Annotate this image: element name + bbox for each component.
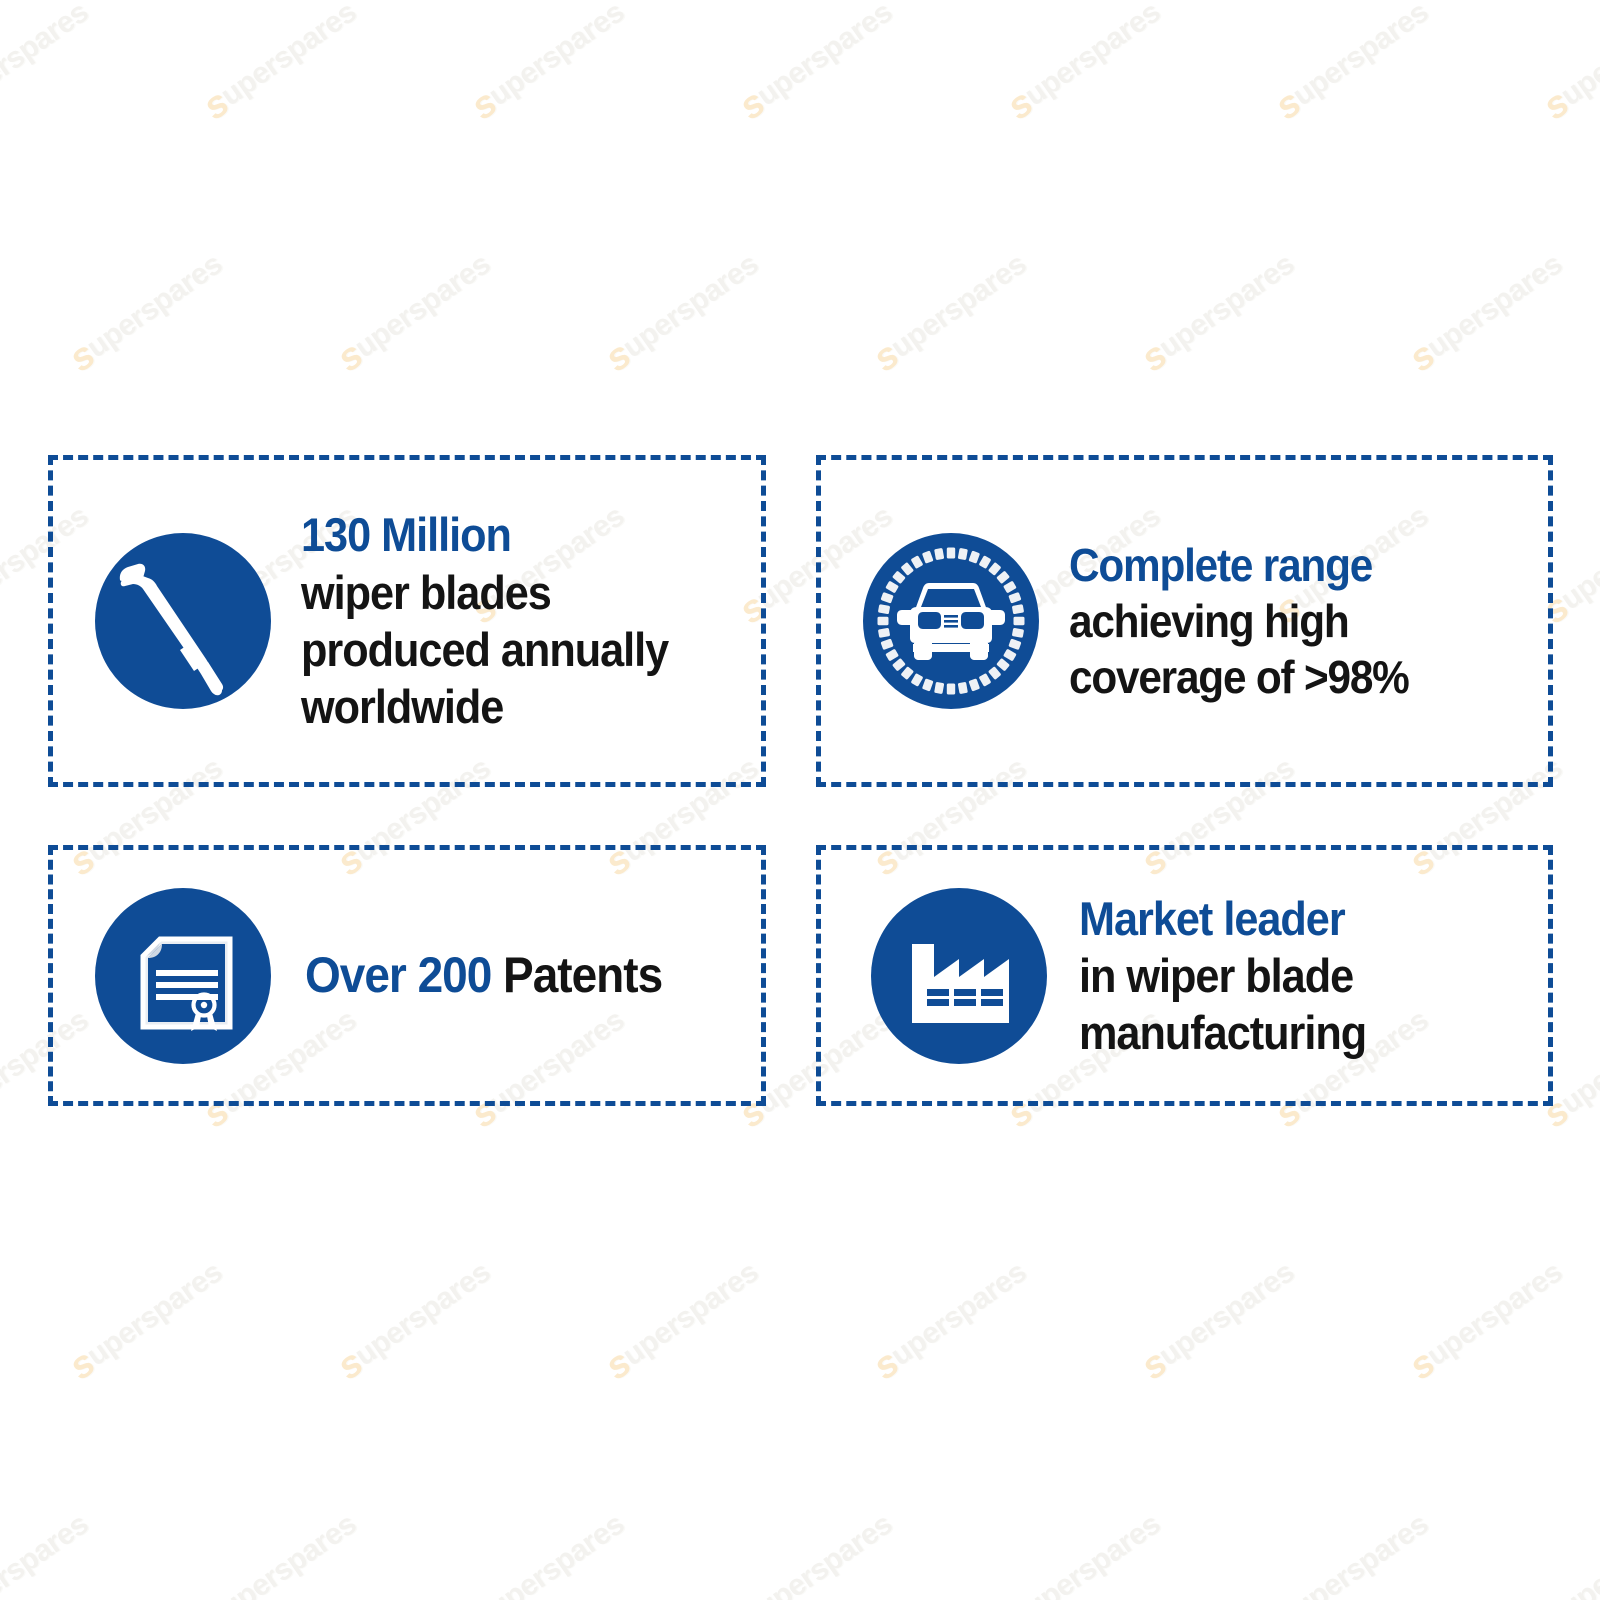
panel-line: wiper blades xyxy=(301,564,715,621)
panel-wiper-blades-produced: 130 Million wiper blades produced annual… xyxy=(48,455,766,787)
factory-icon xyxy=(859,881,1059,1071)
panel-line: produced annually xyxy=(301,621,715,678)
panel-market-leader: Market leader in wiper blade manufacturi… xyxy=(816,845,1553,1106)
panel-text-wiper-blades-produced: 130 Million wiper blades produced annual… xyxy=(283,506,761,735)
panel-line: Over 200 Patents xyxy=(305,945,715,1006)
panel-line-plain: produced annually xyxy=(301,623,668,676)
panel-line-accent: Over 200 xyxy=(305,947,491,1003)
panel-line: in wiper blade xyxy=(1079,947,1501,1004)
panel-line: achieving high xyxy=(1069,593,1500,649)
panel-patents: Over 200 Patents xyxy=(48,845,766,1106)
panel-line-plain: wiper blades xyxy=(301,566,551,619)
panel-complete-range-coverage: Complete range achieving high coverage o… xyxy=(816,455,1553,787)
panel-line-accent: Market leader xyxy=(1079,892,1345,945)
panel-line: Market leader xyxy=(1079,890,1501,947)
panel-line: coverage of >98% xyxy=(1069,649,1500,705)
feature-panel-grid: 130 Million wiper blades produced annual… xyxy=(0,0,1600,1600)
panel-line: 130 Million xyxy=(301,506,715,563)
car-in-ring-icon xyxy=(851,526,1051,716)
panel-line-plain: achieving high xyxy=(1069,595,1349,647)
panel-line-plain: coverage of >98% xyxy=(1069,651,1409,703)
panel-line-accent: 130 Million xyxy=(301,508,511,561)
panel-text-market-leader: Market leader in wiper blade manufacturi… xyxy=(1059,890,1548,1062)
panel-line: worldwide xyxy=(301,678,715,735)
panel-line-plain: Patents xyxy=(491,947,662,1003)
panel-line-plain: in wiper blade xyxy=(1079,949,1353,1002)
wiper-blade-icon xyxy=(83,526,283,716)
panel-line-accent: Complete range xyxy=(1069,539,1372,591)
panel-line-plain: worldwide xyxy=(301,680,503,733)
panel-text-patents: Over 200 Patents xyxy=(283,945,761,1006)
panel-line: Complete range xyxy=(1069,537,1500,593)
panel-line-plain: manufacturing xyxy=(1079,1006,1366,1059)
panel-line: manufacturing xyxy=(1079,1004,1501,1061)
panel-text-complete-range-coverage: Complete range achieving high coverage o… xyxy=(1051,537,1548,705)
certificate-icon xyxy=(83,881,283,1071)
